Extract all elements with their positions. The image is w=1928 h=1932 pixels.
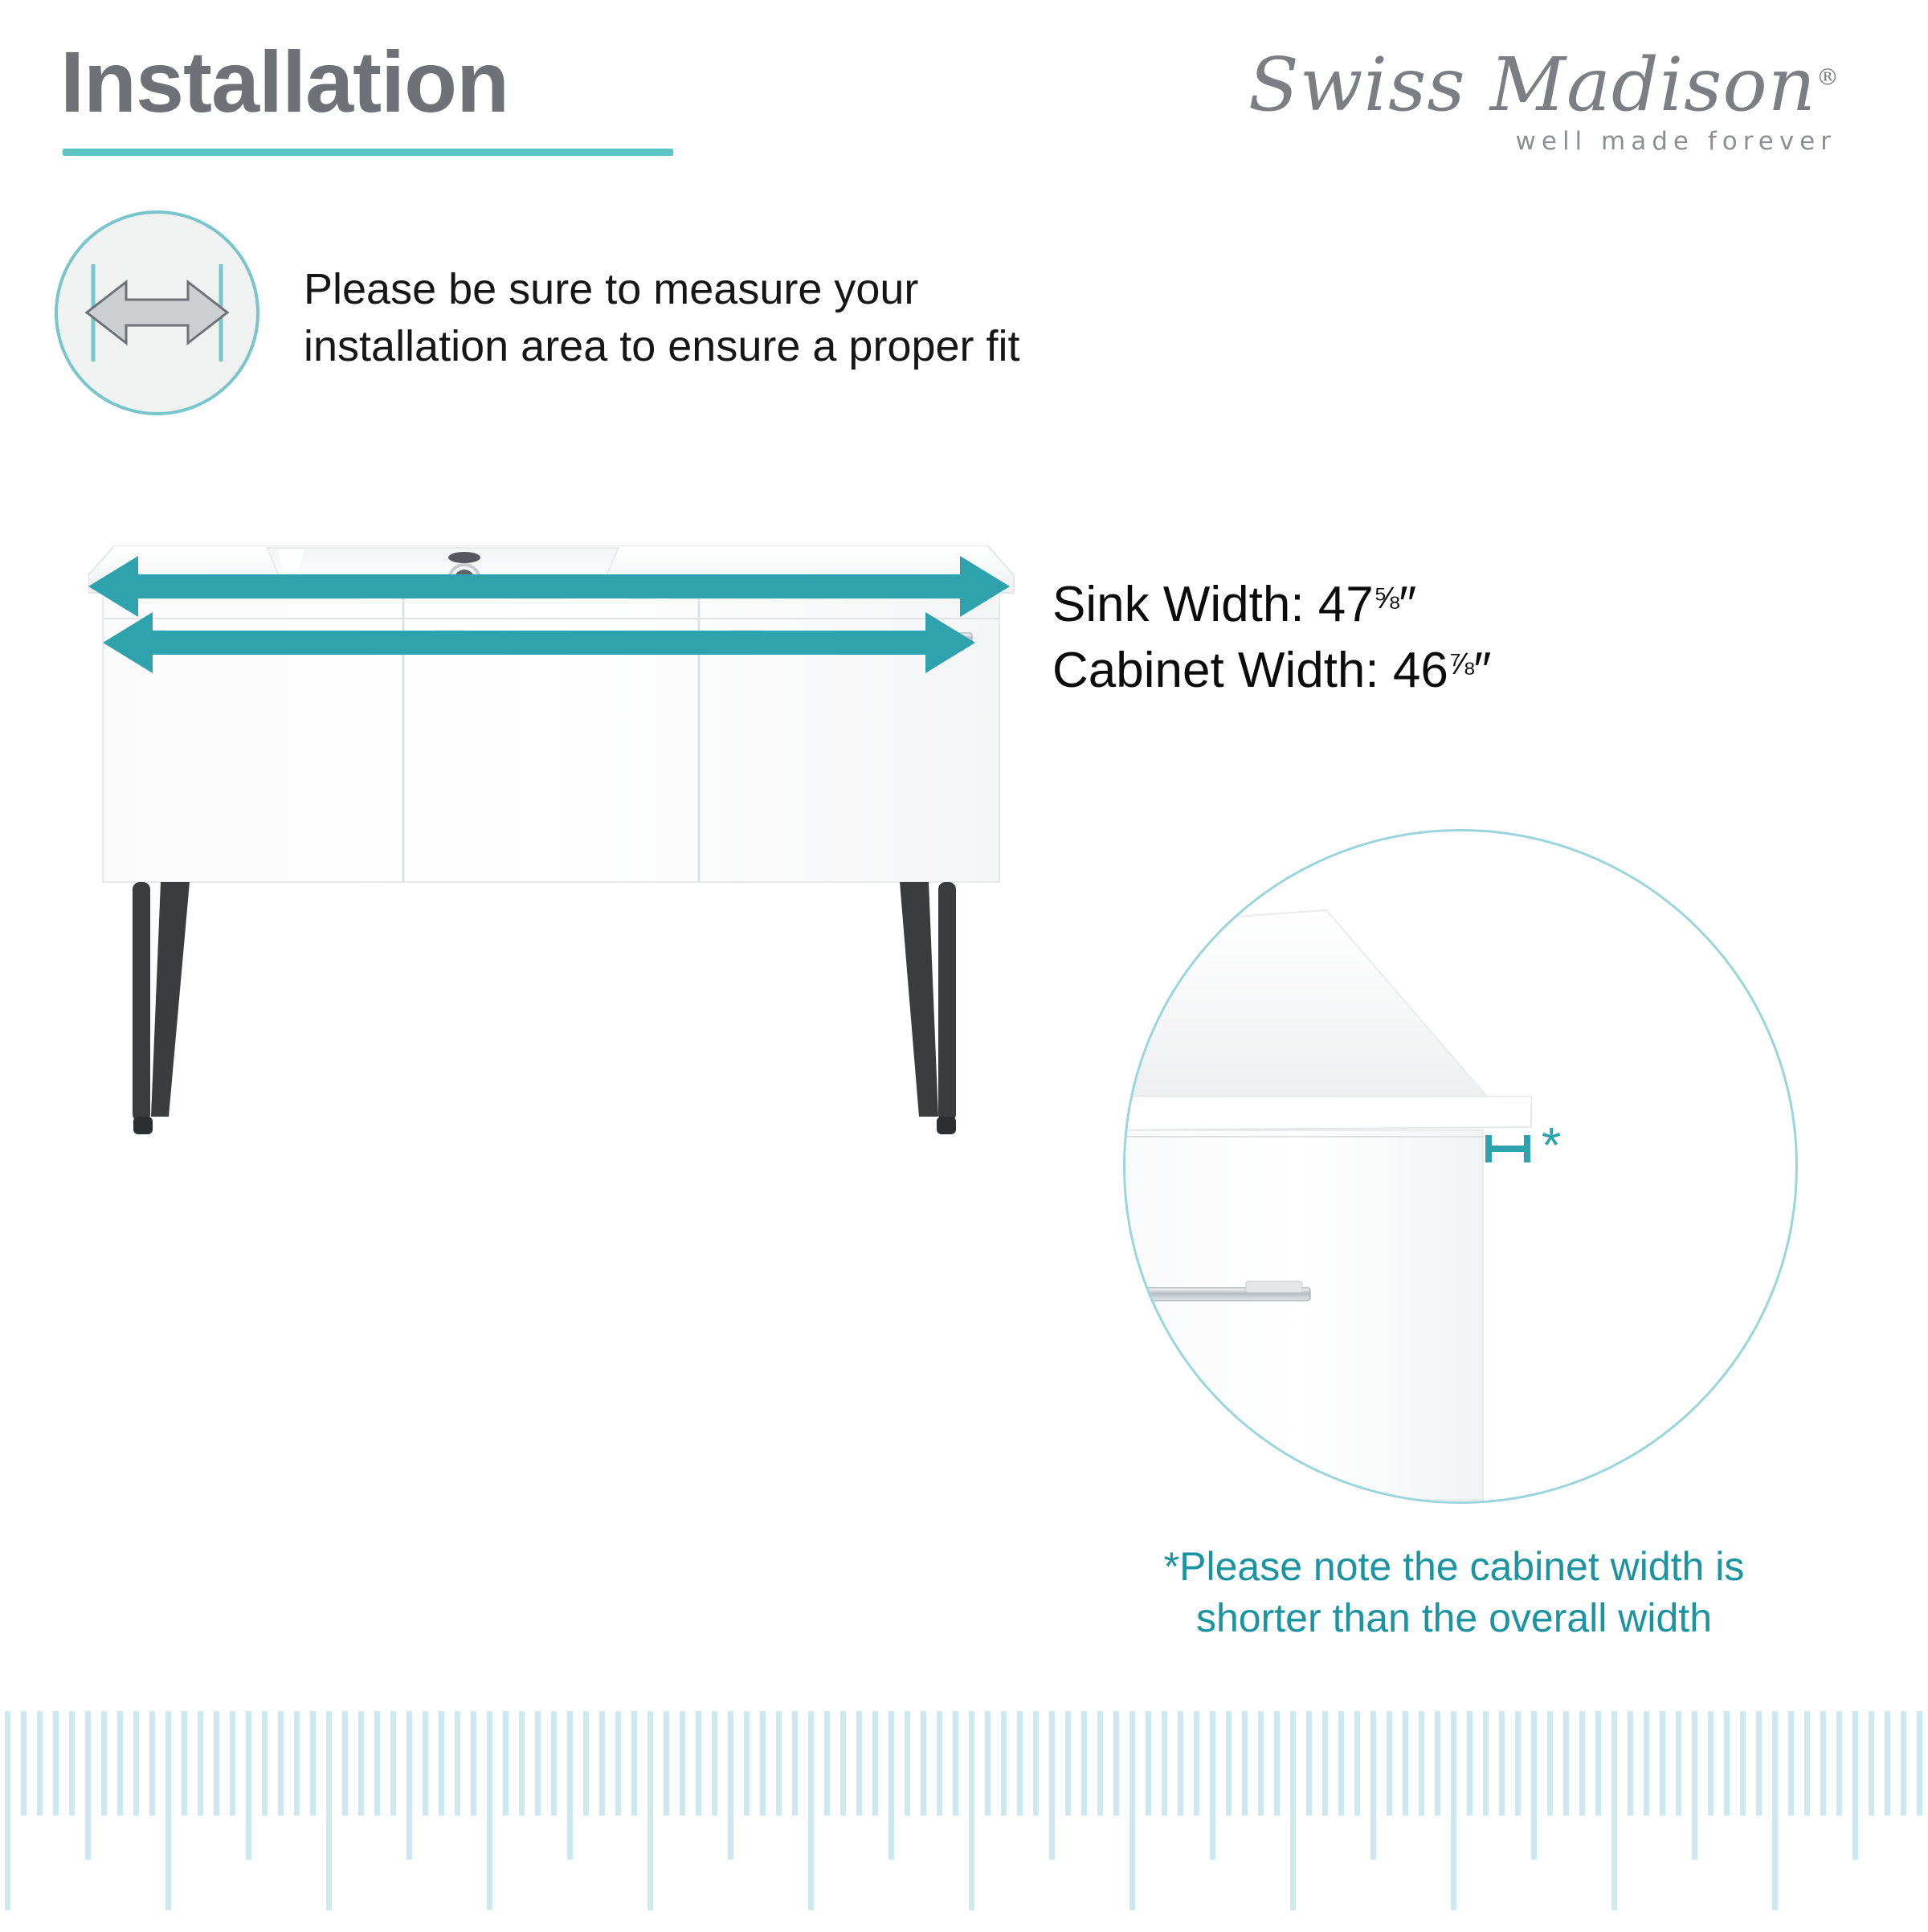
ruler-tick — [278, 1711, 284, 1816]
sink-width-label: Sink Width: 47⅝″ — [1052, 572, 1491, 638]
ruler-tick — [149, 1711, 155, 1816]
ruler-tick — [888, 1711, 894, 1860]
ruler-tick — [1595, 1711, 1601, 1816]
ruler-tick — [1483, 1711, 1489, 1816]
ruler-tick — [37, 1711, 43, 1816]
ruler-tick — [1274, 1711, 1280, 1816]
ruler-tick — [583, 1711, 589, 1816]
cabinet-leg-right — [900, 882, 956, 1134]
ruler-tick — [1146, 1711, 1151, 1816]
dimension-labels: Sink Width: 47⅝″ Cabinet Width: 46⅞″ — [1052, 572, 1491, 705]
ruler-tick — [905, 1711, 910, 1816]
ruler-tick — [1033, 1711, 1039, 1816]
ruler-tick — [262, 1711, 268, 1816]
ruler-tick — [503, 1711, 509, 1816]
footnote-line2: shorter than the overall width — [1068, 1592, 1840, 1644]
ruler-tick — [1611, 1711, 1617, 1910]
ruler-tick — [1178, 1711, 1183, 1816]
measure-width-icon — [58, 214, 256, 412]
ruler-tick — [1467, 1711, 1473, 1816]
ruler-tick — [5, 1711, 10, 1910]
ruler-tick — [1081, 1711, 1087, 1816]
ruler-tick — [1756, 1711, 1762, 1816]
ruler-tick — [1306, 1711, 1312, 1816]
ruler-tick — [1338, 1711, 1344, 1816]
registered-mark-icon: ® — [1816, 63, 1840, 90]
ruler-tick — [647, 1711, 653, 1910]
ruler-tick — [1772, 1711, 1778, 1910]
ruler-tick — [744, 1711, 750, 1816]
ruler-tick — [535, 1711, 541, 1816]
measure-note-line1: Please be sure to measure your — [304, 261, 1020, 318]
ruler-tick — [1628, 1711, 1633, 1816]
sink-width-value: 47 — [1318, 577, 1374, 632]
ruler-tick — [1852, 1711, 1858, 1860]
ruler-tick — [230, 1711, 235, 1816]
ruler-tick — [374, 1711, 380, 1816]
ruler-tick — [1354, 1711, 1360, 1816]
extent-bar-icon — [1489, 1135, 1527, 1162]
vanity-illustration — [88, 530, 1020, 1277]
ruler-tick — [1901, 1711, 1906, 1816]
ruler-tick — [1885, 1711, 1890, 1816]
ruler-tick — [1242, 1711, 1248, 1816]
ruler-tick — [214, 1711, 219, 1816]
detail-inset: * — [1123, 829, 1798, 1504]
sink-width-label-text: Sink Width: — [1052, 577, 1305, 632]
ruler-tick — [471, 1711, 476, 1816]
ruler-tick — [53, 1711, 59, 1816]
ruler-tick — [1788, 1711, 1794, 1816]
ruler-tick — [1724, 1711, 1730, 1816]
ruler-tick — [133, 1711, 139, 1816]
brand-name-text: Swiss Madison — [1248, 42, 1816, 128]
ruler-tick — [1451, 1711, 1456, 1910]
ruler-tick — [117, 1711, 123, 1816]
ruler-tick — [1001, 1711, 1007, 1816]
ruler-tick — [1547, 1711, 1553, 1816]
cabinet-width-footnote: *Please note the cabinet width is shorte… — [1068, 1541, 1840, 1644]
ruler-tick — [101, 1711, 107, 1816]
ruler-tick — [599, 1711, 605, 1816]
cabinet-width-label-text: Cabinet Width: — [1052, 643, 1379, 698]
ruler-tick — [1210, 1711, 1215, 1860]
ruler-tick — [1563, 1711, 1569, 1816]
ruler-tick — [165, 1711, 171, 1910]
ruler-tick — [840, 1711, 846, 1816]
ruler-tick — [1065, 1711, 1071, 1816]
ruler-tick — [1419, 1711, 1424, 1816]
ruler-tick — [1740, 1711, 1746, 1816]
ruler-tick — [406, 1711, 412, 1860]
cabinet-width-fraction: ⅞ — [1448, 647, 1474, 681]
brand-logo: Swiss Madison® well made forever — [1248, 48, 1840, 156]
ruler-tick — [487, 1711, 492, 1910]
footnote-line1: *Please note the cabinet width is — [1068, 1541, 1840, 1592]
ruler-tick — [567, 1711, 573, 1860]
ruler-tick — [1499, 1711, 1505, 1816]
ruler-tick — [439, 1711, 444, 1816]
ruler-tick — [1644, 1711, 1649, 1816]
ruler-tick — [631, 1711, 637, 1816]
brand-name: Swiss Madison® — [1248, 48, 1840, 122]
inset-cabinet-front — [1125, 1130, 1483, 1500]
brand-tagline: well made forever — [1248, 127, 1836, 156]
faucet-hole — [448, 552, 480, 563]
ruler-tick — [1692, 1711, 1697, 1860]
ruler-decoration — [0, 1709, 1928, 1928]
ruler-tick — [1869, 1711, 1874, 1816]
ruler-tick — [953, 1711, 958, 1816]
cabinet-width-unit: ″ — [1473, 643, 1491, 698]
ruler-tick — [776, 1711, 782, 1816]
measure-badge — [55, 210, 259, 415]
ruler-tick — [519, 1711, 525, 1816]
cabinet-width-label: Cabinet Width: 46⅞″ — [1052, 638, 1491, 704]
ruler-tick — [1049, 1711, 1055, 1860]
installation-sheet: Installation Swiss Madison® well made fo… — [0, 0, 1928, 1928]
ruler-tick — [1194, 1711, 1199, 1816]
ruler-tick — [551, 1711, 557, 1816]
ruler-tick — [712, 1711, 717, 1816]
cabinet-width-value: 46 — [1393, 643, 1448, 698]
ruler-tick — [85, 1711, 91, 1860]
ruler-tick — [1403, 1711, 1408, 1816]
ruler-tick — [1258, 1711, 1264, 1816]
cabinet-leg-left — [133, 882, 190, 1134]
ruler-tick — [1515, 1711, 1521, 1816]
ruler-tick — [198, 1711, 203, 1816]
measure-note: Please be sure to measure your installat… — [304, 261, 1020, 376]
ruler-tick — [969, 1711, 974, 1910]
ruler-tick — [294, 1711, 300, 1816]
ruler-tick — [615, 1711, 621, 1816]
ruler-tick — [1017, 1711, 1023, 1816]
ruler-tick — [1660, 1711, 1665, 1816]
ruler-tick — [856, 1711, 862, 1816]
ruler-tick — [985, 1711, 991, 1816]
ruler-tick — [358, 1711, 364, 1816]
title-underline — [63, 149, 673, 156]
inset-asterisk: * — [1542, 1118, 1561, 1174]
ruler-tick — [824, 1711, 830, 1816]
sink-width-fraction: ⅝ — [1374, 581, 1399, 615]
ruler-tick — [1387, 1711, 1392, 1816]
ruler-tick — [680, 1711, 685, 1816]
ruler-tick — [696, 1711, 701, 1816]
ruler-tick — [1836, 1711, 1842, 1816]
ruler-tick — [1370, 1711, 1376, 1860]
ruler-tick — [728, 1711, 733, 1860]
ruler-tick — [1129, 1711, 1135, 1910]
ruler-tick — [1290, 1711, 1296, 1910]
sink-width-unit: ″ — [1399, 577, 1416, 632]
inset-countertop-top — [1125, 910, 1487, 1111]
ruler-tick — [423, 1711, 428, 1816]
ruler-tick — [1322, 1711, 1328, 1816]
ruler-tick — [1579, 1711, 1585, 1816]
ruler-tick — [1162, 1711, 1167, 1816]
ruler-tick — [1435, 1711, 1440, 1816]
ruler-tick — [21, 1711, 27, 1816]
ruler-tick — [937, 1711, 942, 1816]
ruler-tick — [664, 1711, 669, 1816]
ruler-tick — [342, 1711, 348, 1816]
ruler-tick — [1917, 1711, 1922, 1816]
ruler-tick — [182, 1711, 187, 1816]
ruler-tick — [326, 1711, 332, 1910]
ruler-tick — [455, 1711, 460, 1816]
ruler-tick — [1804, 1711, 1810, 1816]
ruler-tick — [792, 1711, 798, 1816]
ruler-tick — [1113, 1711, 1119, 1816]
ruler-tick — [390, 1711, 396, 1816]
ruler-tick — [1226, 1711, 1232, 1816]
ruler-tick — [1820, 1711, 1826, 1816]
measure-note-line2: installation area to ensure a proper fit — [304, 318, 1020, 375]
page-title: Installation — [60, 39, 509, 125]
ruler-tick — [246, 1711, 251, 1860]
ruler-tick — [69, 1711, 75, 1816]
ruler-tick — [1708, 1711, 1714, 1816]
ruler-tick — [872, 1711, 878, 1816]
ruler-tick — [921, 1711, 926, 1816]
ruler-tick — [808, 1711, 814, 1910]
ruler-tick — [760, 1711, 766, 1816]
ruler-tick — [1676, 1711, 1681, 1816]
ruler-tick — [1097, 1711, 1103, 1816]
ruler-tick — [310, 1711, 316, 1816]
ruler-tick — [1531, 1711, 1537, 1860]
